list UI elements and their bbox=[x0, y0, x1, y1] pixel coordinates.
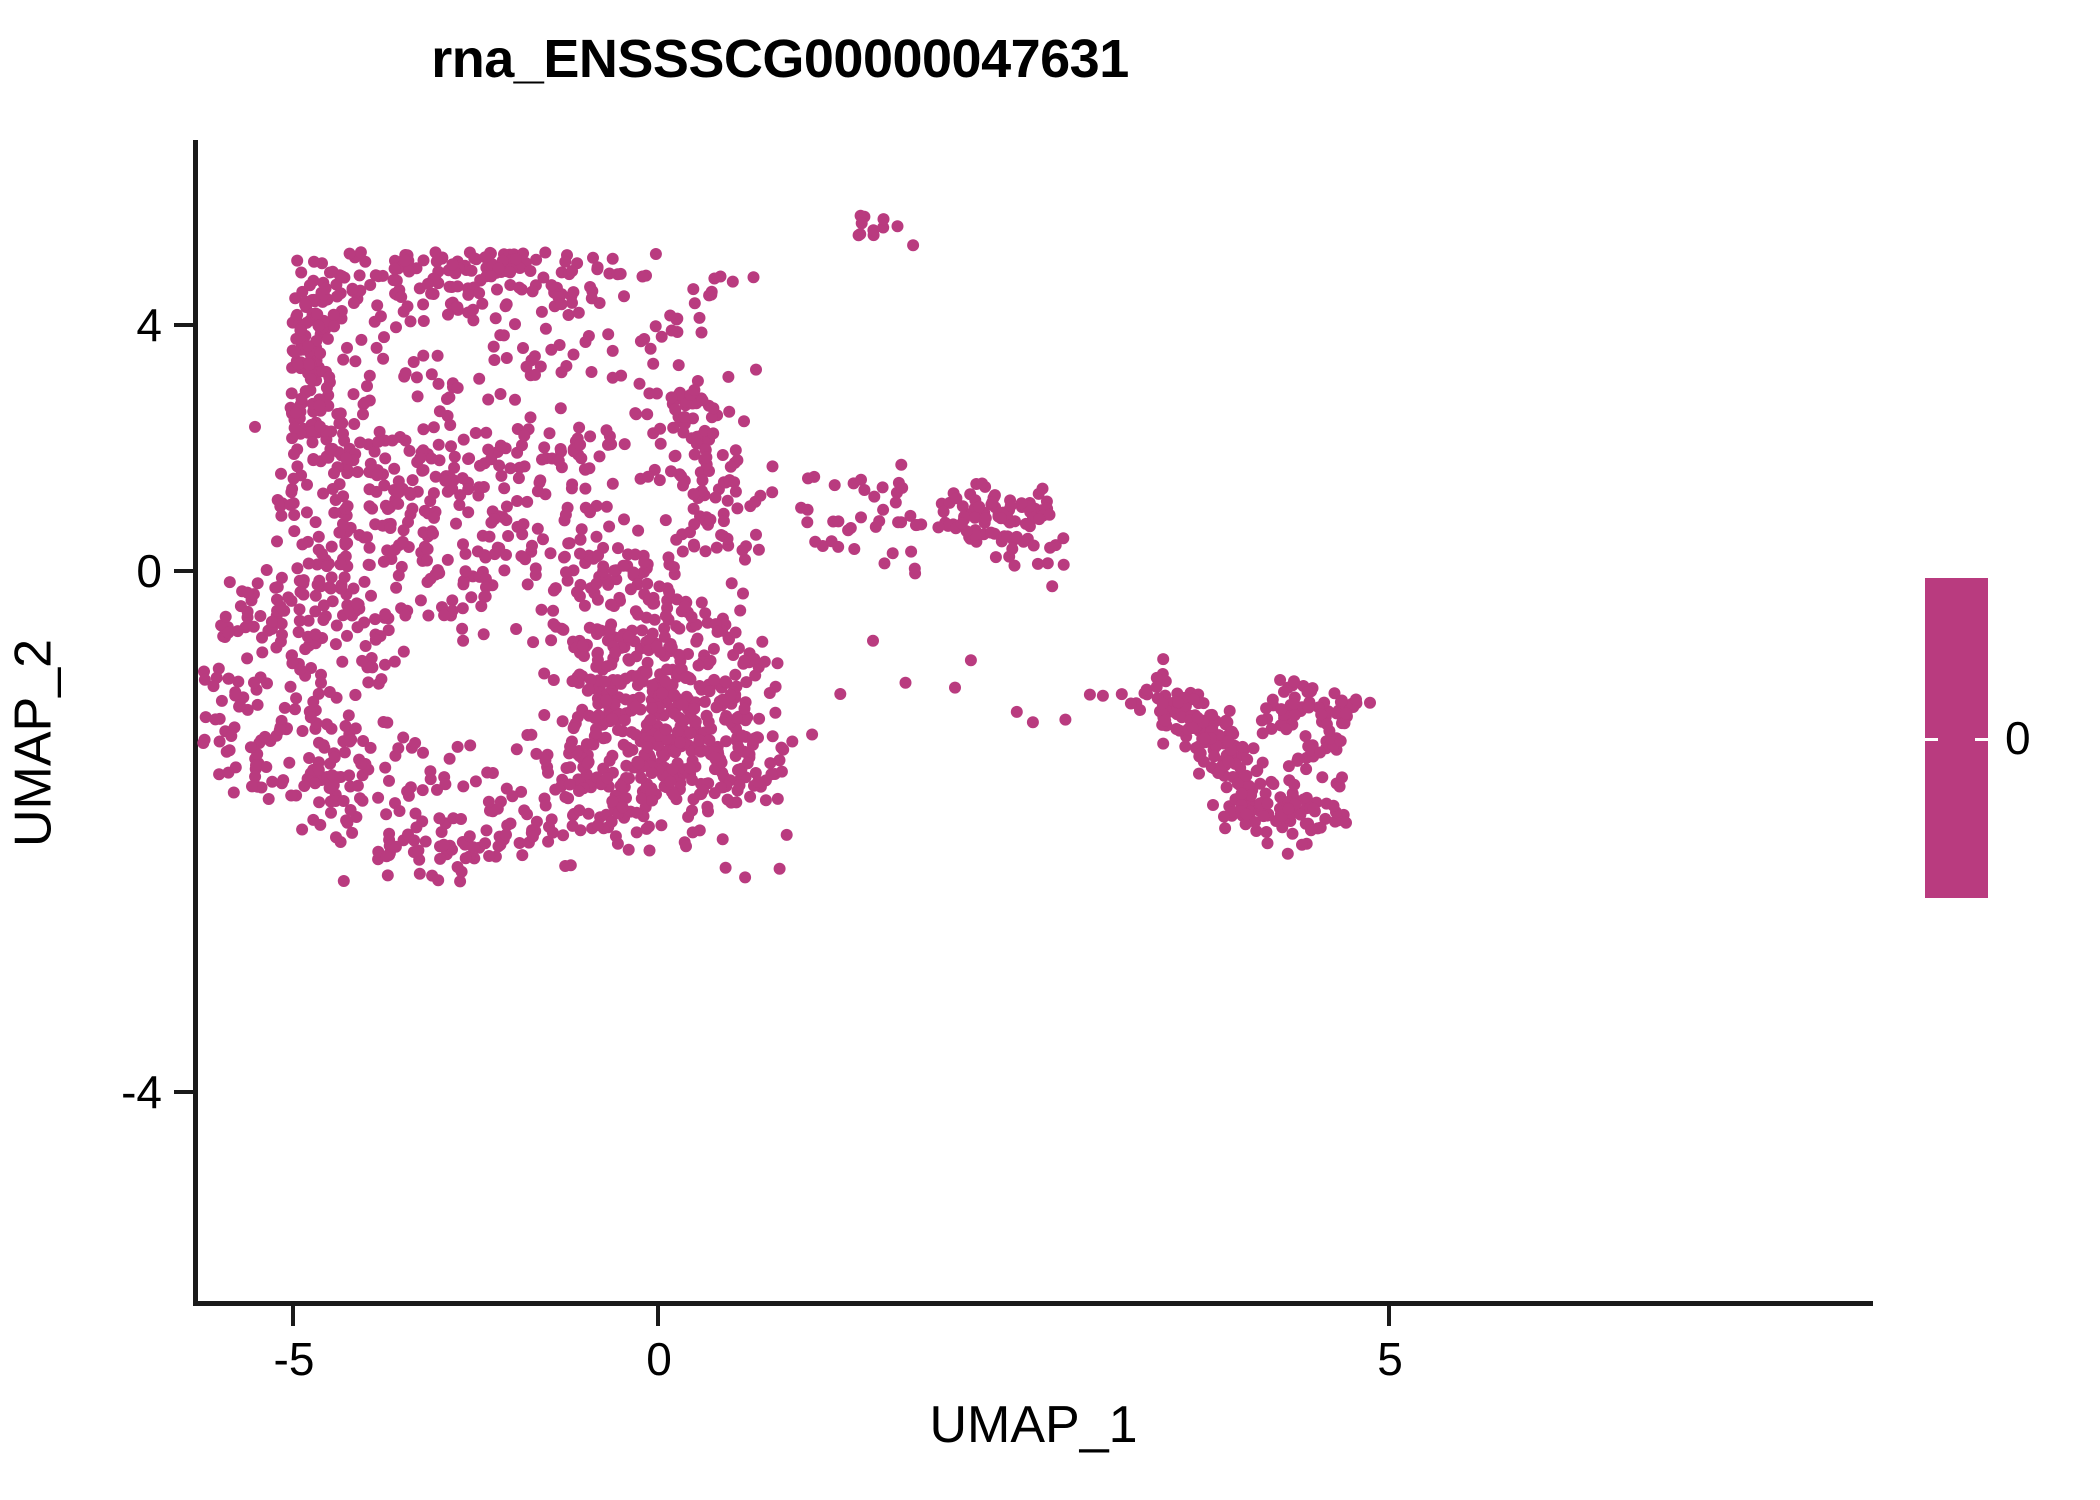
y-tick-label-4: 4 bbox=[100, 298, 162, 352]
x-tick-label-minus5: -5 bbox=[209, 1332, 379, 1386]
umap-feature-plot: rna_ENSSSCG00000047631 4 0 -4 -5 0 5 UMA… bbox=[0, 0, 2100, 1500]
legend-tick-label: 0 bbox=[2005, 711, 2031, 765]
x-tick-label-5: 5 bbox=[1305, 1332, 1475, 1386]
x-tick-mark-0 bbox=[656, 1306, 660, 1326]
y-tick-label-0: 0 bbox=[100, 544, 162, 598]
x-tick-mark-minus5 bbox=[291, 1306, 295, 1326]
y-tick-mark-minus4 bbox=[174, 1090, 194, 1094]
x-axis-line bbox=[193, 1301, 1873, 1306]
colorbar-tick-right bbox=[1975, 738, 1988, 741]
x-tick-mark-5 bbox=[1387, 1306, 1391, 1326]
scatter-points-layer bbox=[0, 0, 2100, 1500]
y-tick-mark-4 bbox=[174, 323, 194, 327]
x-tick-label-0: 0 bbox=[574, 1332, 744, 1386]
y-tick-mark-0 bbox=[174, 569, 194, 573]
x-axis-title: UMAP_1 bbox=[195, 1395, 1872, 1455]
colorbar-tick-left bbox=[1925, 738, 1938, 741]
y-tick-label-minus4: -4 bbox=[78, 1065, 162, 1119]
page-title: rna_ENSSSCG00000047631 bbox=[0, 28, 1560, 90]
y-axis-line bbox=[193, 140, 198, 1306]
legend-colorbar[interactable]: 0 bbox=[1925, 578, 2095, 908]
y-axis-title: UMAP_2 bbox=[4, 163, 64, 1324]
